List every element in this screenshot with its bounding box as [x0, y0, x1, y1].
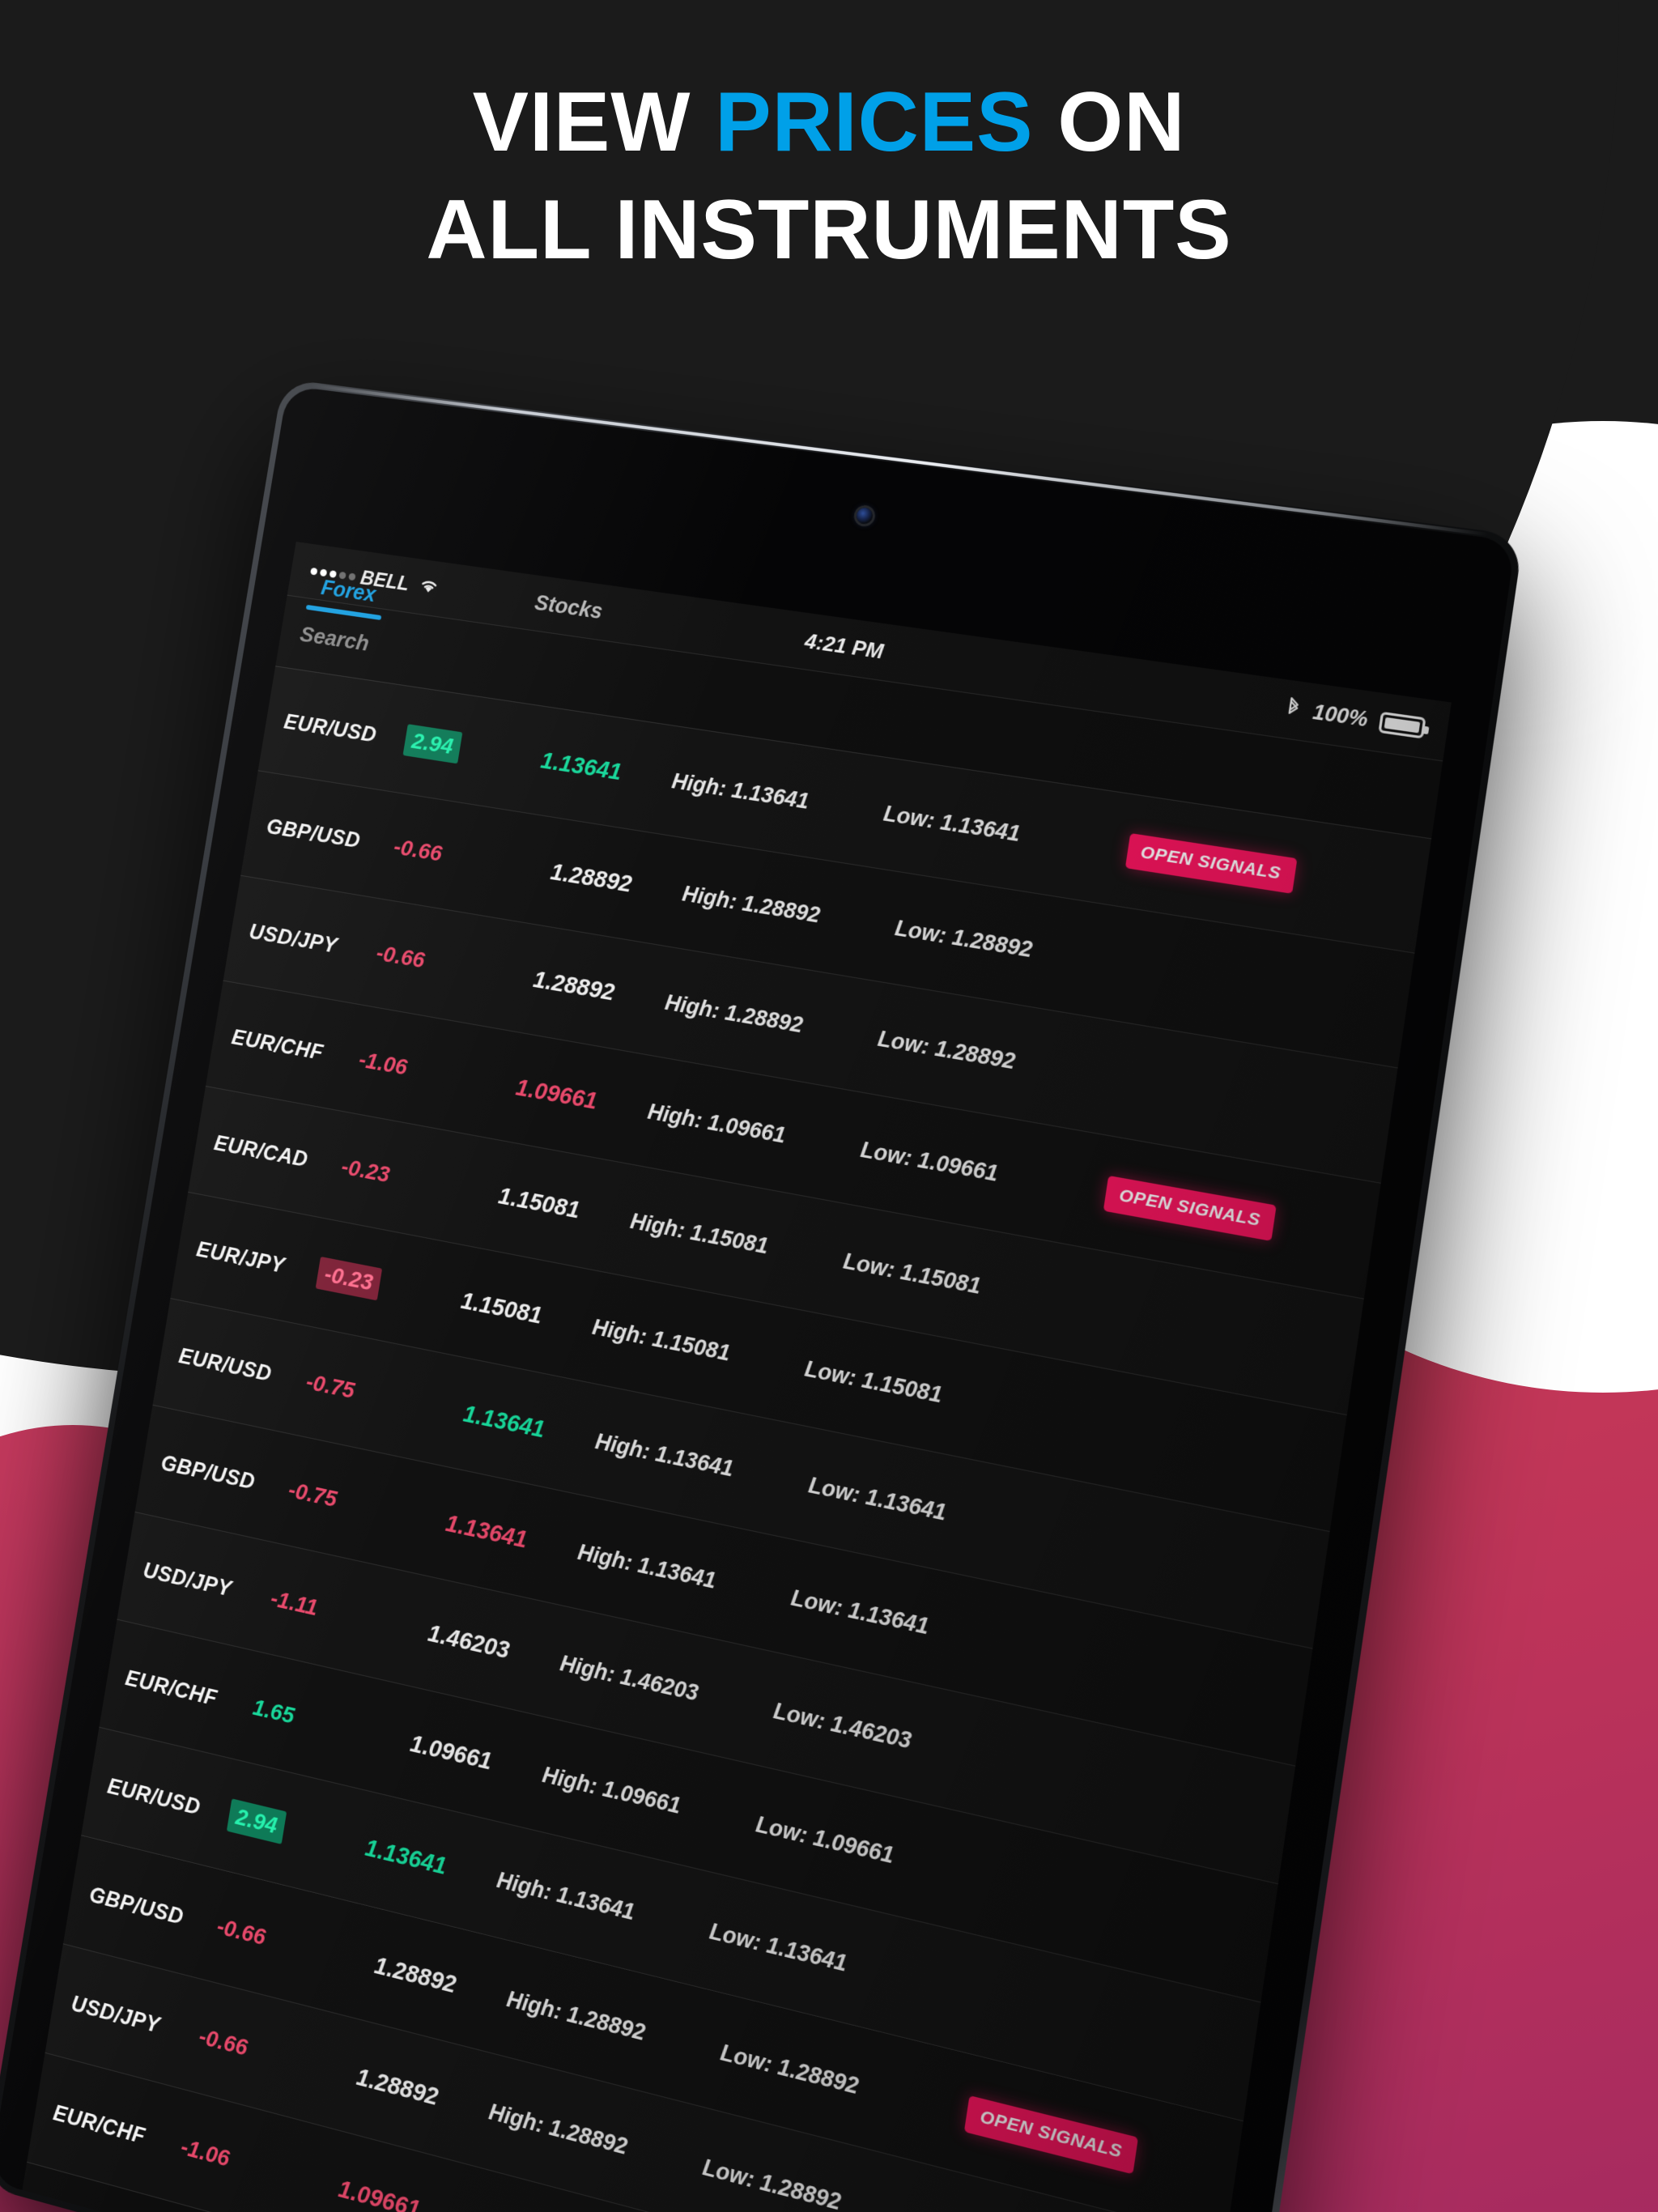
change-percent: -1.06	[173, 2132, 291, 2189]
instrument-high: High: 1.09661	[646, 1099, 863, 1162]
instrument-high: High: 1.28892	[505, 1985, 723, 2065]
instrument-low: Low: 1.15081	[841, 1248, 1065, 1315]
instrument-symbol: EUR/CHF	[124, 1665, 249, 1718]
change-percent: -0.66	[368, 939, 486, 984]
open-signals-slot	[1025, 1411, 1218, 1449]
instrument-symbol: USD/JPY	[142, 1557, 267, 1609]
instrument-price: 1.28892	[322, 1939, 509, 2012]
open-signals-slot: OPEN SIGNALS	[1078, 1171, 1277, 1241]
instrument-symbol: EUR/CHF	[230, 1024, 355, 1070]
bluetooth-icon	[1284, 695, 1303, 725]
instrument-low: Low: 1.28892	[893, 915, 1116, 976]
open-signals-slot: OPEN SIGNALS	[1100, 829, 1297, 894]
instrument-price: 1.28892	[499, 851, 685, 907]
instrument-symbol: EUR/JPY	[195, 1236, 321, 1285]
instrument-low: Low: 1.13641	[882, 801, 1104, 860]
open-signals-slot	[1098, 1076, 1290, 1109]
headline-line-1: VIEW PRICES ON	[0, 69, 1658, 177]
change-percent: 1.65	[245, 1693, 363, 1746]
change-percent: -0.66	[209, 1912, 326, 1966]
instrument-price: 1.13641	[411, 1390, 597, 1454]
instrument-symbol: USD/JPY	[248, 919, 373, 964]
instrument-price: 1.15081	[409, 1278, 594, 1340]
instrument-price: 1.28892	[304, 2050, 491, 2125]
instrument-high: High: 1.28892	[681, 881, 898, 941]
instrument-low: Low: 1.28892	[719, 2039, 944, 2121]
instrument-low: Low: 1.09661	[754, 1810, 979, 1888]
instrument-low: Low: 1.13641	[789, 1585, 1014, 1658]
instrument-high: High: 1.13641	[576, 1539, 793, 1610]
instrument-price: 1.09661	[464, 1066, 650, 1125]
instruments-list: EUR/USD2.941.13641High: 1.13641Low: 1.13…	[27, 666, 1431, 2212]
change-percent: -0.75	[281, 1475, 398, 1525]
status-clock: 4:21 PM	[803, 628, 885, 664]
change-badge: -0.23	[316, 1257, 382, 1300]
instrument-symbol: EUR/USD	[177, 1343, 303, 1393]
instrument-price: 1.13641	[393, 1499, 580, 1565]
change-percent: -1.06	[351, 1045, 469, 1091]
instrument-low: Low: 1.15081	[803, 1355, 1027, 1424]
instrument-symbol: GBP/USD	[265, 814, 390, 857]
headline-text-prices: PRICES	[715, 75, 1033, 169]
instrument-price: 1.15081	[447, 1173, 633, 1234]
instrument-low: Low: 1.13641	[708, 1917, 932, 1997]
instrument-low: Low: 1.28892	[876, 1026, 1099, 1089]
instrument-symbol: GBP/USD	[87, 1882, 213, 1938]
open-signals-button[interactable]: OPEN SIGNALS	[964, 2095, 1138, 2174]
open-signals-slot	[929, 1984, 1122, 2031]
instrument-high: High: 1.09661	[541, 1761, 759, 1836]
change-percent: -0.66	[386, 833, 503, 877]
instrument-price: 1.46203	[376, 1609, 562, 1677]
instrument-symbol: EUR/CAD	[212, 1130, 338, 1177]
instrument-symbol: GBP/USD	[159, 1450, 285, 1501]
instrument-price: 1.09661	[287, 2162, 474, 2212]
promo-headline: VIEW PRICES ON ALL INSTRUMENTS	[0, 69, 1658, 284]
wifi-icon	[416, 575, 442, 601]
open-signals-slot	[1012, 1644, 1205, 1686]
instrument-high: High: 1.46203	[559, 1650, 776, 1724]
instrument-price: 1.13641	[489, 740, 674, 794]
open-signals-slot	[977, 1875, 1171, 1921]
instrument-symbol: EUR/CHF	[52, 2099, 177, 2158]
battery-full-icon	[1378, 712, 1426, 739]
instrument-symbol: USD/JPY	[70, 1990, 195, 2047]
instrument-high: High: 1.13641	[670, 768, 886, 826]
open-signals-button[interactable]: OPEN SIGNALS	[1124, 833, 1297, 894]
open-signals-button[interactable]: OPEN SIGNALS	[1103, 1176, 1277, 1241]
instrument-symbol: EUR/USD	[283, 709, 407, 752]
instrument-high: High: 1.28892	[663, 989, 880, 1051]
change-badge: 2.94	[403, 724, 462, 764]
open-signals-slot	[994, 1759, 1188, 1802]
instrument-low: Low: 1.09661	[859, 1137, 1083, 1202]
status-bar-right: 100%	[1284, 695, 1449, 745]
instrument-low: Low: 1.13641	[807, 1472, 1031, 1543]
open-signals-slot	[1064, 1302, 1257, 1338]
change-percent: -0.66	[191, 2021, 308, 2077]
open-signals-slot	[1115, 963, 1307, 995]
headline-text-view: VIEW	[473, 75, 716, 169]
instrument-price: 1.28892	[482, 958, 668, 1015]
instrument-high: High: 1.13641	[593, 1428, 810, 1498]
change-percent: -1.11	[263, 1584, 380, 1635]
instrument-high: High: 1.15081	[591, 1314, 807, 1381]
instrument-price: 1.13641	[313, 1822, 500, 1893]
instrument-high: High: 1.28892	[487, 2098, 705, 2180]
change-percent: -0.75	[299, 1368, 416, 1416]
headline-line-2: ALL INSTRUMENTS	[0, 177, 1658, 284]
battery-percent-label: 100%	[1312, 700, 1370, 732]
headline-text-on: ON	[1034, 75, 1186, 169]
instrument-high: High: 1.13641	[495, 1866, 712, 1943]
change-badge: 2.94	[227, 1798, 287, 1844]
app-screen: BELL Forex Stocks	[22, 542, 1451, 2212]
open-signals-slot: OPEN SIGNALS	[939, 2089, 1138, 2174]
front-camera-icon	[856, 507, 874, 525]
instrument-high: High: 1.15081	[628, 1208, 845, 1274]
instrument-symbol: EUR/USD	[106, 1773, 232, 1827]
tab-stocks[interactable]: Stocks	[525, 589, 612, 626]
open-signals-slot	[1029, 1530, 1222, 1570]
instrument-low: Low: 1.46203	[772, 1697, 996, 1772]
instrument-price: 1.09661	[358, 1718, 545, 1788]
instrument-low: Low: 1.28892	[701, 2154, 926, 2212]
change-percent: -0.23	[334, 1152, 451, 1199]
